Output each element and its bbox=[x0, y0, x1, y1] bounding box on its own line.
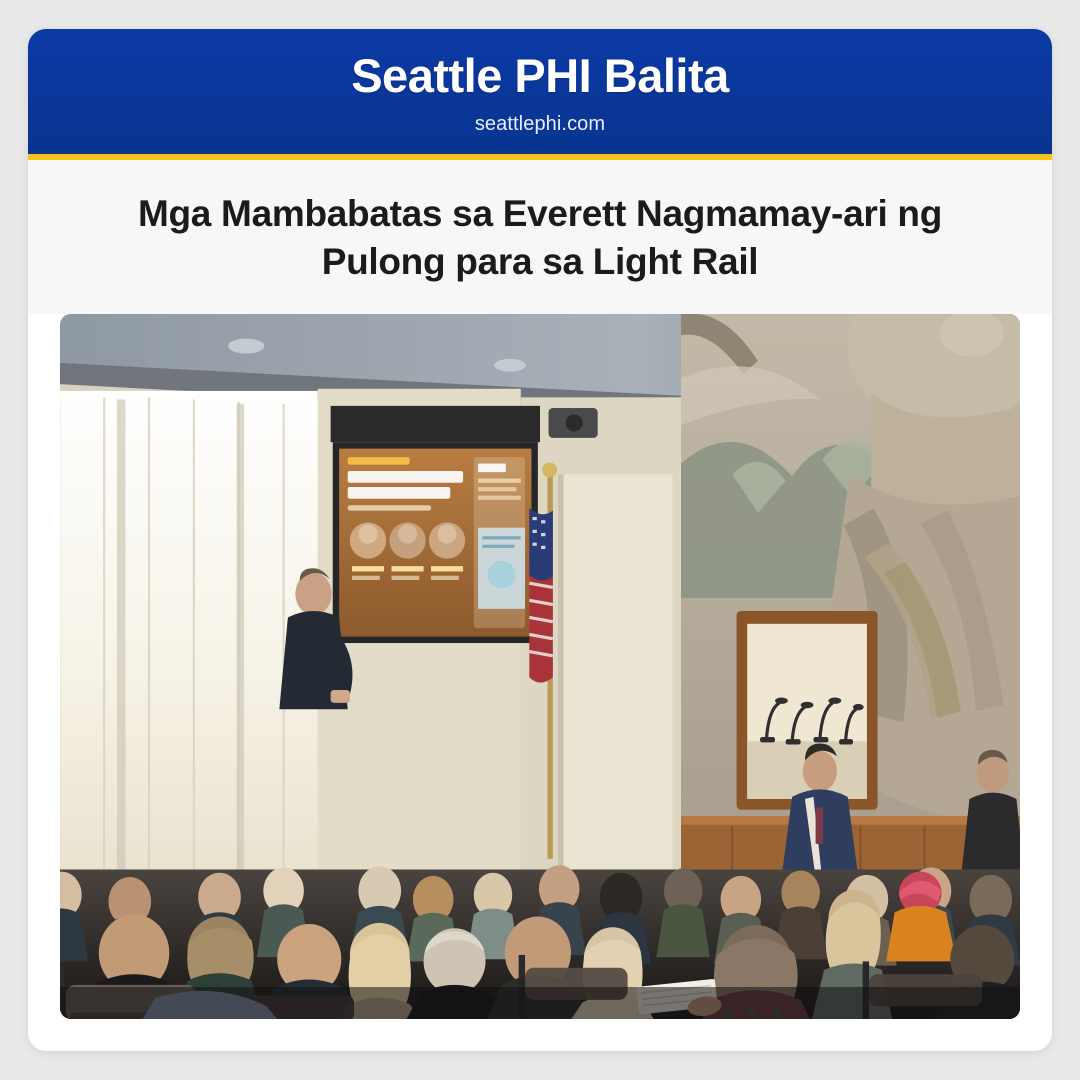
news-card: Seattle PHI Balita seattlephi.com Mga Ma… bbox=[28, 29, 1052, 1051]
card-header: Seattle PHI Balita seattlephi.com bbox=[28, 29, 1052, 154]
headline-section: Mga Mambabatas sa Everett Nagmamay-ari n… bbox=[28, 160, 1052, 314]
article-headline: Mga Mambabatas sa Everett Nagmamay-ari n… bbox=[74, 190, 1006, 286]
brand-title: Seattle PHI Balita bbox=[58, 51, 1022, 102]
page-root: Seattle PHI Balita seattlephi.com Mga Ma… bbox=[0, 0, 1080, 1080]
brand-domain[interactable]: seattlephi.com bbox=[58, 113, 1022, 136]
meeting-room-illustration bbox=[60, 314, 1020, 1019]
photo-container bbox=[28, 314, 1052, 1051]
article-photo bbox=[60, 314, 1020, 1019]
